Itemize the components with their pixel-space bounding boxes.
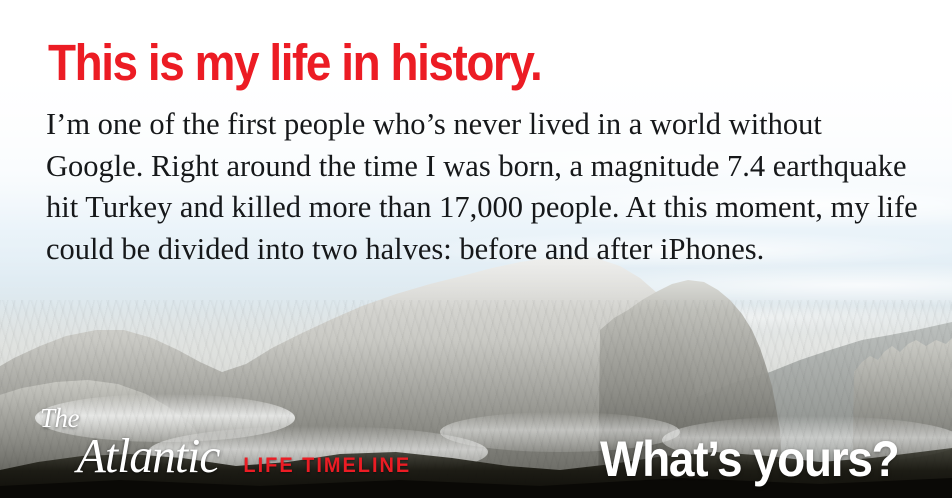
body-paragraph: I’m one of the first people who’s never … xyxy=(46,104,926,270)
atlantic-logo[interactable]: The Atlantic xyxy=(38,431,225,480)
life-timeline-label: LIFE TIMELINE xyxy=(244,454,412,478)
atlantic-logo-the: The xyxy=(40,405,79,432)
card-content: This is my life in history. I’m one of t… xyxy=(0,0,952,498)
life-timeline-share-card: This is my life in history. I’m one of t… xyxy=(0,0,952,498)
atlantic-logo-wordmark: Atlantic xyxy=(38,431,220,480)
tagline: What’s yours? xyxy=(600,432,898,486)
brand-lockup[interactable]: The Atlantic LIFE TIMELINE xyxy=(38,431,416,480)
headline: This is my life in history. xyxy=(48,36,541,90)
